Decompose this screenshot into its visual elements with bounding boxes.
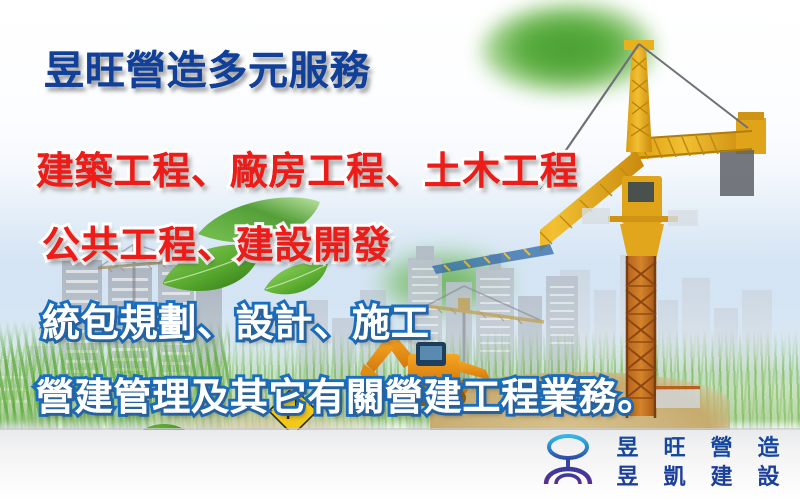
yuwang-logo-mark-icon <box>538 434 598 490</box>
logo-char: 建 <box>698 463 745 492</box>
logo-company-top: 昱 旺 營 造 <box>604 434 792 463</box>
company-logo[interactable]: 昱 旺 營 造 昱 凱 建 設 <box>538 432 788 494</box>
logo-char: 營 <box>698 434 745 463</box>
logo-char: 昱 <box>604 463 651 492</box>
logo-wordmark: 昱 旺 營 造 昱 凱 建 設 <box>604 434 792 492</box>
page-title: 昱旺營造多元服務 <box>44 38 370 96</box>
service-line-3: 統包規劃、設計、施工 <box>42 292 430 347</box>
logo-char: 設 <box>745 463 792 492</box>
logo-char: 昱 <box>604 434 651 463</box>
logo-char: 旺 <box>651 434 698 463</box>
service-line-2: 公共工程、建設開發 <box>42 214 391 269</box>
logo-char: 造 <box>745 434 792 463</box>
logo-company-bottom: 昱 凱 建 設 <box>604 463 792 492</box>
logo-char: 凱 <box>651 463 698 492</box>
service-line-1: 建築工程、廠房工程、土木工程 <box>36 140 579 195</box>
service-line-4: 營建管理及其它有關營建工程業務。 <box>36 366 656 421</box>
banner-copy: 昱旺營造多元服務 昱旺營造多元服務 建築工程、廠房工程、土木工程 建築工程、廠房… <box>0 0 800 500</box>
promo-banner: 昱旺營造多元服務 昱旺營造多元服務 建築工程、廠房工程、土木工程 建築工程、廠房… <box>0 0 800 500</box>
